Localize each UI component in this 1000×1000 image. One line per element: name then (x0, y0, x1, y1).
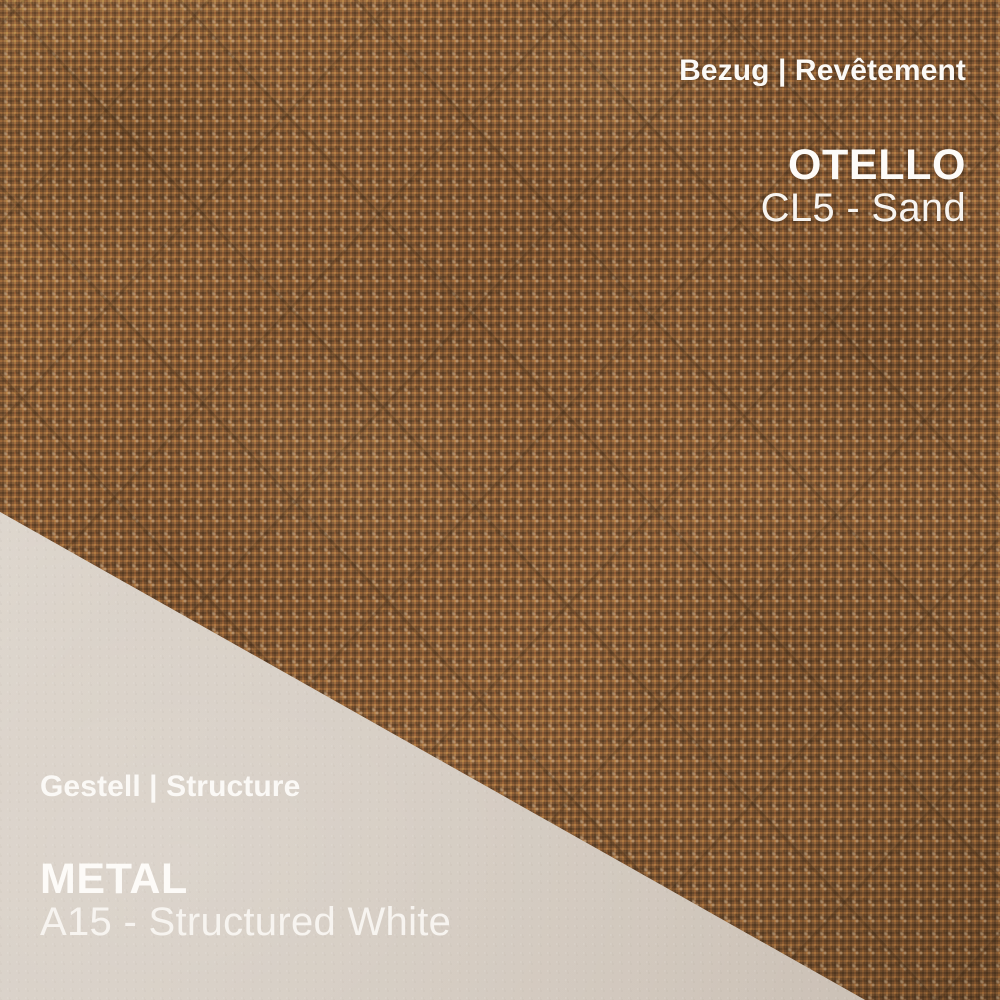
upholstery-label-block: Bezug | Revêtement OTELLO CL5 - Sand (679, 54, 966, 230)
structure-subtitle: A15 - Structured White (40, 901, 451, 944)
upholstery-label-spacer (679, 88, 966, 144)
structure-kicker: Gestell | Structure (40, 770, 451, 804)
upholstery-subtitle: CL5 - Sand (679, 187, 966, 230)
upholstery-kicker: Bezug | Revêtement (679, 54, 966, 88)
structure-label-block: Gestell | Structure METAL A15 - Structur… (40, 770, 451, 944)
structure-title: METAL (40, 858, 451, 901)
material-swatch-card: Bezug | Revêtement OTELLO CL5 - Sand Ges… (0, 0, 1000, 1000)
structure-label-spacer (40, 804, 451, 858)
upholstery-title: OTELLO (679, 144, 966, 187)
